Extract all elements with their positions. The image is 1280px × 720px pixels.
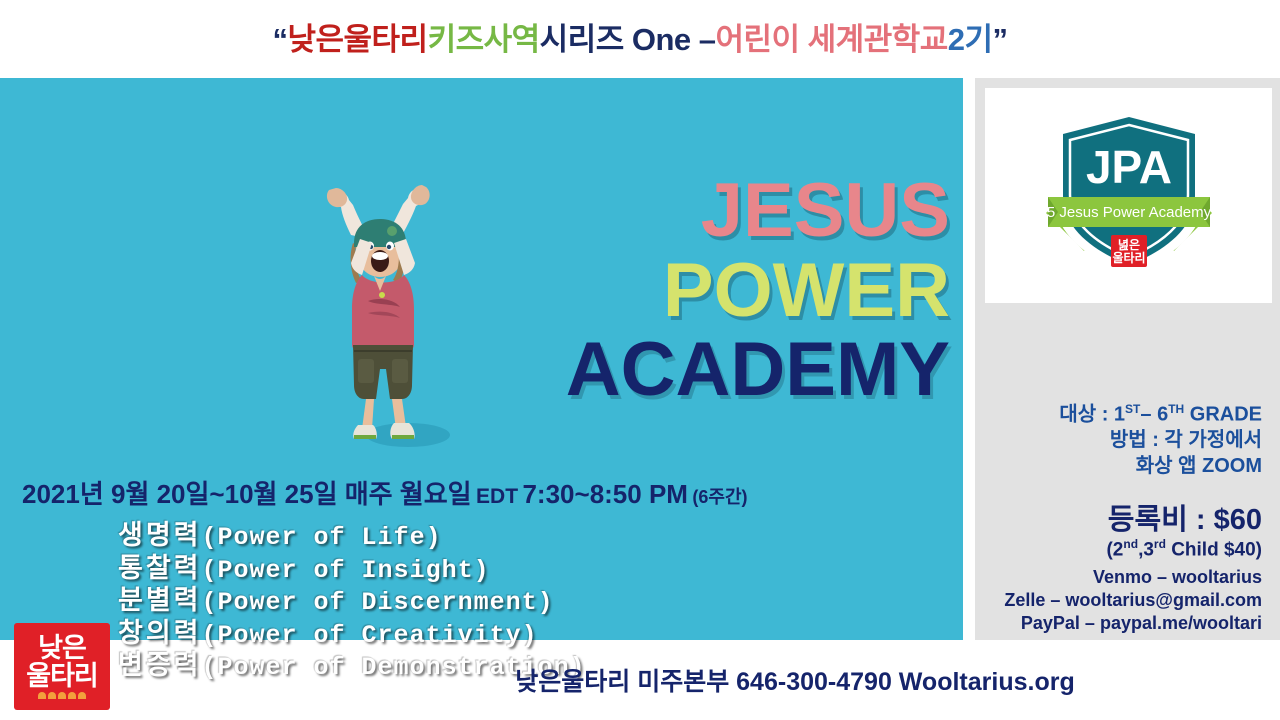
side-info-method-2: 화상 앱 ZOOM (975, 454, 1262, 480)
badge-inner-logo-line2: 울타리 (1112, 250, 1145, 265)
side-info-target-sup1: ST (1125, 402, 1140, 416)
title-part-series-one: 시리즈 One – (540, 24, 716, 55)
title-close-quote: ” (993, 24, 1008, 55)
fee-sibling-discount: (2nd,3rd Child $40) (975, 537, 1262, 562)
title-part-kids-ministry: 키즈사역 (428, 24, 540, 55)
poster-root: “ 낮은울타리 키즈사역 시리즈 One – 어린이 세계관학교 2기 ” (0, 0, 1280, 720)
power-item-korean: 통찰력 (118, 553, 202, 583)
headline-jesus: JESUS (430, 174, 950, 248)
payment-venmo: Venmo – wooltarius (975, 566, 1262, 589)
schedule-time: 7:30~8:50 PM (522, 479, 687, 509)
headline-power: POWER (430, 254, 950, 328)
jpa-badge-icon: JPA 5 Jesus Power Academy 녎은 울타리 (1044, 101, 1214, 291)
fee-sub-mid: ,3 (1138, 539, 1154, 560)
power-item-korean: 생명력 (118, 520, 202, 550)
payment-methods-group: Venmo – wooltarius Zelle – wooltarius@gm… (975, 566, 1272, 635)
power-item: 통찰력(Power of Insight) (118, 553, 586, 586)
badge-initials-text: JPA (1085, 141, 1171, 193)
main-cyan-panel: JESUS POWER ACADEMY 2021년 9월 20일~10월 25일… (0, 78, 963, 640)
fee-sub-end: Child $40) (1166, 539, 1262, 560)
schedule-timezone: EDT (476, 485, 518, 508)
title-part-cohort: 2기 (948, 24, 993, 55)
title-part-organization: 낮은울타리 (287, 24, 427, 55)
power-item-korean: 변증력 (118, 650, 202, 680)
payment-zelle: Zelle – wooltarius@gmail.com (975, 589, 1262, 612)
fee-sub-sup1: nd (1123, 537, 1138, 551)
wooltari-logo: 낮은 울타리 (14, 623, 110, 710)
schedule-dates: 2021년 9월 20일~10월 25일 매주 월요일 (22, 479, 472, 509)
power-item: 분별력(Power of Discernment) (118, 585, 586, 618)
side-info-target-label: 대상 : 1 (1059, 404, 1125, 426)
power-item-korean: 창의력 (118, 618, 202, 648)
badge-ribbon-text: 5 Jesus Power Academy (1046, 204, 1211, 221)
poster-title-bar: “ 낮은울타리 키즈사역 시리즈 One – 어린이 세계관학교 2기 ” (0, 0, 1280, 78)
side-info-target-mid: – 6 (1140, 404, 1168, 426)
fee-sub-sup2: rd (1154, 537, 1166, 551)
power-item: 창의력(Power of Creativity) (118, 618, 586, 651)
side-info-target-sup2: TH (1168, 402, 1184, 416)
side-info-method-1: 방법 : 각 가정에서 (975, 428, 1262, 454)
title-part-worldview-school: 어린이 세계관학교 (715, 24, 947, 55)
schedule-line: 2021년 9월 20일~10월 25일 매주 월요일 EDT 7:30~8:5… (22, 474, 952, 511)
power-item: 생명력(Power of Life) (118, 520, 586, 553)
schedule-duration: (6주간) (692, 487, 747, 507)
fee-group: 등록비 : $60 (2nd,3rd Child $40) (975, 505, 1272, 561)
power-item-english: (Power of Creativity) (202, 621, 538, 650)
wooltari-logo-line1: 낮은 (38, 635, 86, 662)
badge-inner-logo-line1: 녎은 (1117, 237, 1139, 252)
side-info-target-end: GRADE (1184, 404, 1262, 426)
fence-icon (38, 692, 86, 699)
wooltari-logo-line2: 울타리 (26, 663, 98, 690)
power-item-english: (Power of Insight) (202, 556, 490, 585)
badge-logo-box: JPA 5 Jesus Power Academy 녎은 울타리 (985, 88, 1272, 303)
power-item-english: (Power of Discernment) (202, 588, 554, 617)
powers-list: 생명력(Power of Life) 통찰력(Power of Insight)… (118, 520, 586, 683)
fee-amount: 등록비 : $60 (975, 505, 1262, 537)
side-info-target: 대상 : 1ST– 6TH GRADE (975, 402, 1262, 428)
fee-sub-prefix: (2 (1106, 539, 1123, 560)
title-open-quote: “ (272, 24, 287, 55)
payment-paypal: PayPal – paypal.me/wooltari (975, 612, 1262, 635)
power-item-english: (Power of Life) (202, 523, 442, 552)
power-item-korean: 분별력 (118, 585, 202, 615)
headline-group: JESUS POWER ACADEMY (430, 174, 950, 407)
side-info-group: 대상 : 1ST– 6TH GRADE 방법 : 각 가정에서 화상 앱 ZOO… (975, 402, 1272, 479)
footer-contact: 낮은울타리 미주본부 646-300-4790 Wooltarius.org (330, 662, 1260, 698)
headline-academy: ACADEMY (430, 333, 950, 407)
